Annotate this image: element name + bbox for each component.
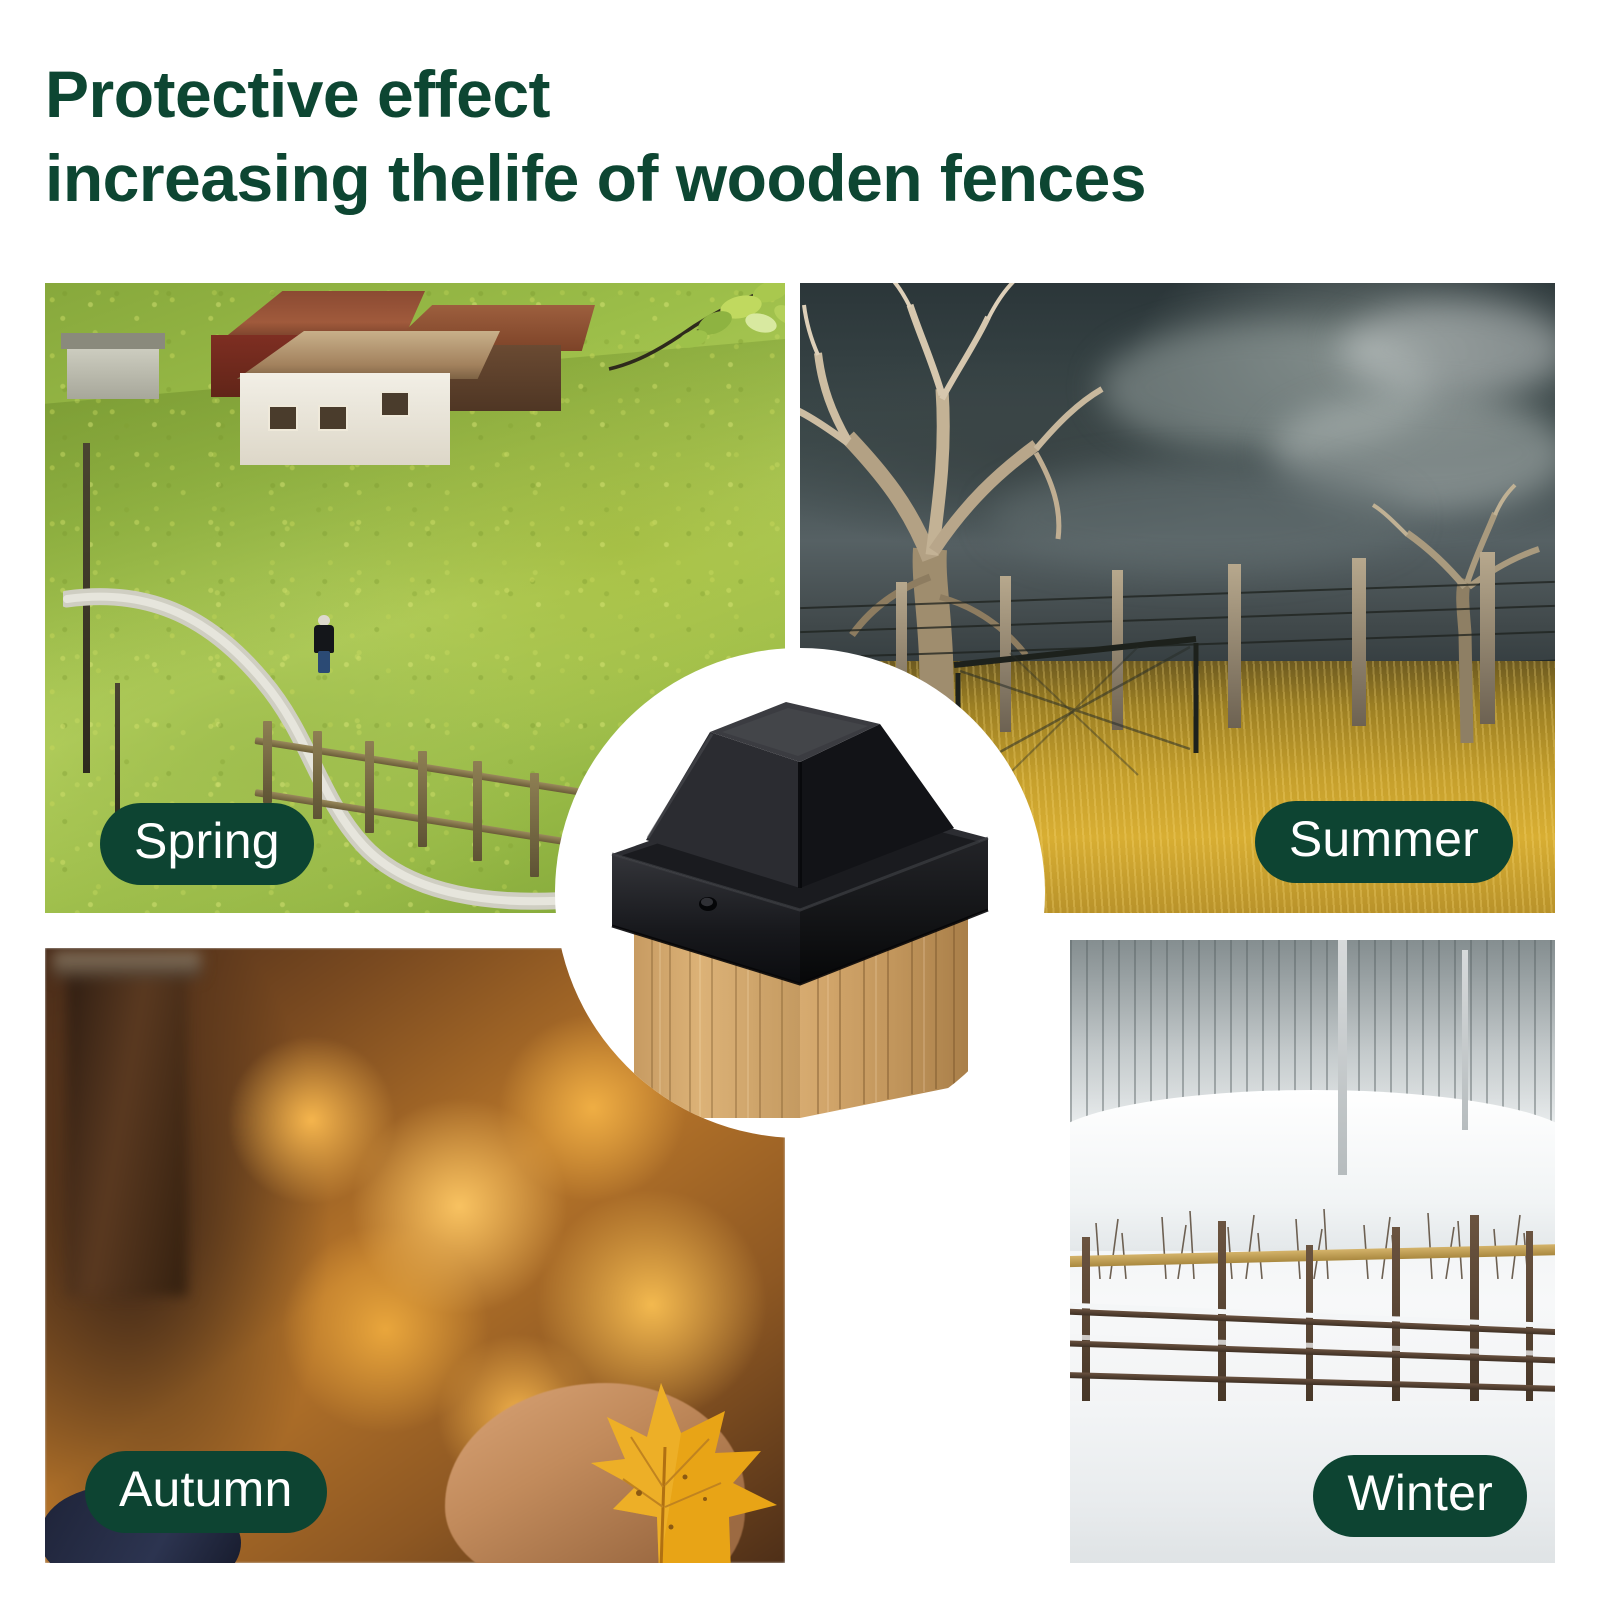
page-title: Protective effect increasing thelife of … <box>45 52 1445 221</box>
badge-spring-label: Spring <box>134 812 280 870</box>
badge-autumn: Autumn <box>85 1451 327 1533</box>
autumn-wooden-post <box>67 966 187 1296</box>
spring-chalet-white <box>220 331 500 471</box>
summer-cloud-4 <box>1340 301 1555 397</box>
badge-summer-label: Summer <box>1289 810 1479 868</box>
badge-summer: Summer <box>1255 801 1513 883</box>
badge-winter: Winter <box>1313 1455 1527 1537</box>
autumn-maple-leaf <box>539 1367 785 1563</box>
headline-line-1: Protective effect <box>45 52 1445 136</box>
spring-tree-branch <box>565 283 785 427</box>
badge-autumn-label: Autumn <box>119 1460 293 1518</box>
product-highlight-circle <box>555 648 1045 1138</box>
winter-birch-tree-2 <box>1462 950 1468 1130</box>
headline-line-2: increasing thelife of wooden fences <box>45 136 1445 220</box>
post-cap-product-image <box>590 688 1010 1118</box>
winter-birch-tree-1 <box>1338 940 1347 1175</box>
spring-person-walking <box>313 615 335 673</box>
spring-shed <box>67 345 159 399</box>
badge-winter-label: Winter <box>1347 1464 1493 1522</box>
badge-spring: Spring <box>100 803 314 885</box>
panel-winter: Winter <box>1070 940 1555 1563</box>
infographic-page: Protective effect increasing thelife of … <box>0 0 1600 1600</box>
